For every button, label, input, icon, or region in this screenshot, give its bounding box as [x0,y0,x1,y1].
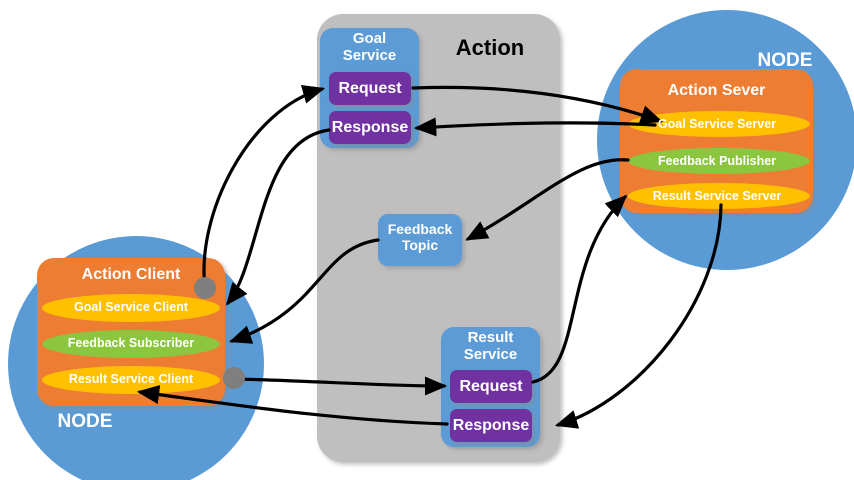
feedback-subscriber-ellipse[interactable] [42,330,220,358]
conn-goal-client-to-goal-request [204,89,322,288]
goal-service-client-ellipse[interactable] [42,294,220,322]
goal-service-client-connector-dot [194,277,216,299]
diagram-svg [0,0,854,480]
feedback-publisher-ellipse[interactable] [628,148,810,174]
diagram-canvas: Action Goal Service Request Response Fee… [0,0,854,480]
goal-response-box[interactable] [329,111,411,144]
result-request-box[interactable] [450,370,532,403]
result-service-client-connector-dot [223,367,245,389]
feedback-topic-box[interactable] [378,214,462,266]
goal-request-box[interactable] [329,72,411,105]
result-response-box[interactable] [450,409,532,442]
conn-goal-response-to-goal-client [228,130,329,303]
result-service-client-ellipse[interactable] [42,366,220,394]
result-service-server-ellipse[interactable] [628,183,810,209]
